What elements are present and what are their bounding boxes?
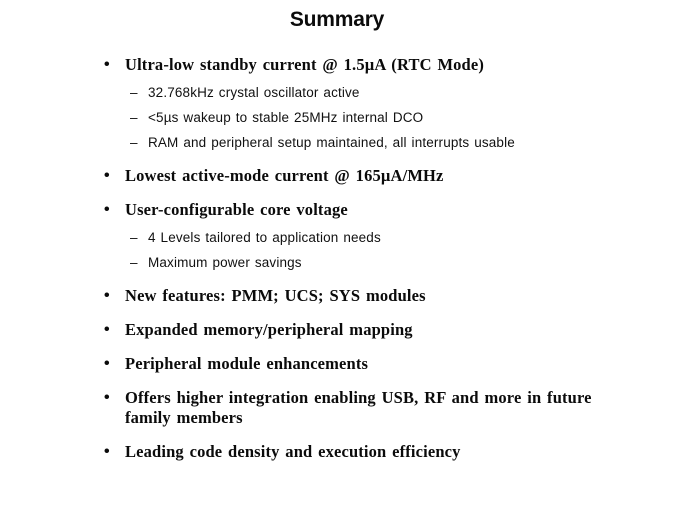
list-item-label: Lowest active-mode current @ 165µA/MHz [125,166,624,186]
list-item-label: Maximum power savings [148,254,624,272]
list-item: – 4 Levels tailored to application needs [130,229,624,247]
bullet-marker-icon: • [104,442,125,462]
dash-marker-icon: – [130,84,148,102]
list-item: • Offers higher integration enabling USB… [104,388,624,428]
dash-marker-icon: – [130,254,148,272]
bullet-marker-icon: • [104,166,125,186]
list-item: – 32.768kHz crystal oscillator active [130,84,624,102]
list-item: • New features: PMM; UCS; SYS modules [104,286,624,306]
bullet-marker-icon: • [104,354,125,374]
list-item: • Leading code density and execution eff… [104,442,624,462]
list-item: – Maximum power savings [130,254,624,272]
bullet-marker-icon: • [104,320,125,340]
list-item: • User-configurable core voltage [104,200,624,220]
bullet-marker-icon: • [104,286,125,306]
list-item-label: Peripheral module enhancements [125,354,624,374]
list-item-label: Expanded memory/peripheral mapping [125,320,624,340]
bullet-list: • Ultra-low standby current @ 1.5µA (RTC… [104,55,624,462]
list-item-label: 4 Levels tailored to application needs [148,229,624,247]
dash-marker-icon: – [130,229,148,247]
list-item-label: RAM and peripheral setup maintained, all… [148,134,624,152]
list-item-label: Leading code density and execution effic… [125,442,624,462]
dash-marker-icon: – [130,109,148,127]
page-title: Summary [0,8,674,32]
list-item-label: Offers higher integration enabling USB, … [125,388,624,428]
list-item-label: New features: PMM; UCS; SYS modules [125,286,624,306]
list-item: • Ultra-low standby current @ 1.5µA (RTC… [104,55,624,75]
list-item-label: User-configurable core voltage [125,200,624,220]
list-item-label: 32.768kHz crystal oscillator active [148,84,624,102]
bullet-marker-icon: • [104,55,125,75]
bullet-marker-icon: • [104,388,125,408]
list-item-label: Ultra-low standby current @ 1.5µA (RTC M… [125,55,624,75]
list-item: – RAM and peripheral setup maintained, a… [130,134,624,152]
list-item: • Peripheral module enhancements [104,354,624,374]
list-item: • Expanded memory/peripheral mapping [104,320,624,340]
bullet-marker-icon: • [104,200,125,220]
dash-marker-icon: – [130,134,148,152]
list-item: • Lowest active-mode current @ 165µA/MHz [104,166,624,186]
slide: Summary • Ultra-low standby current @ 1.… [0,0,674,506]
list-item-label: <5µs wakeup to stable 25MHz internal DCO [148,109,624,127]
list-item: – <5µs wakeup to stable 25MHz internal D… [130,109,624,127]
